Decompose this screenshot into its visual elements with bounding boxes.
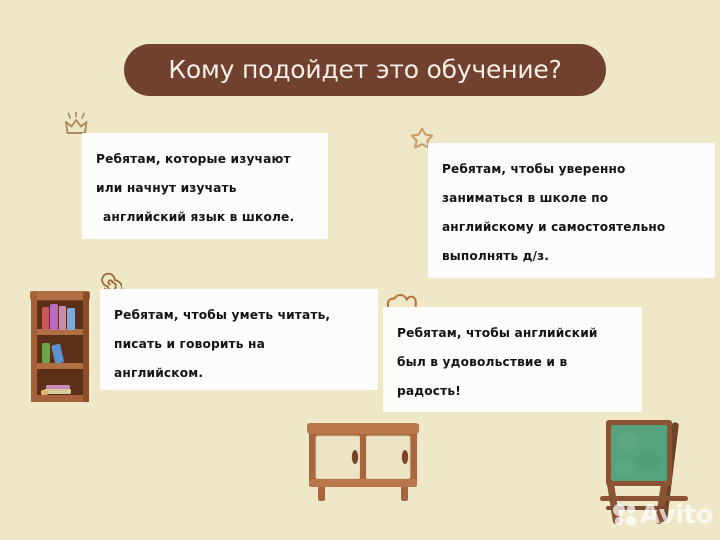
card-line: заниматься в школе по [442, 184, 701, 213]
card-line: английский язык в школе. [96, 203, 314, 232]
page-title-pill: Кому подойдет это обучение? [124, 44, 606, 96]
bookshelf-illustration [28, 289, 94, 407]
card-line: писать и говорить на [114, 330, 364, 359]
card-line: Ребятам, чтобы уметь читать, [114, 301, 364, 330]
card-line: радость! [397, 377, 628, 406]
card-line: Ребятам, которые изучают [96, 145, 314, 174]
benefit-card-1: Ребятам, которые изучают или начнут изуч… [82, 133, 328, 239]
avito-logo-icon [612, 502, 638, 528]
poster-canvas: Кому подойдет это обучение? Ребятам, [0, 0, 720, 540]
card-line: Ребятам, чтобы английский [397, 319, 628, 348]
benefit-card-3: Ребятам, чтобы уметь читать, писать и го… [100, 289, 378, 390]
benefit-card-4: Ребятам, чтобы английский был в удовольс… [383, 307, 642, 412]
card-line: английскому и самостоятельно [442, 213, 701, 242]
card-line: Ребятам, чтобы уверенно [442, 155, 701, 184]
page-title: Кому подойдет это обучение? [168, 57, 561, 84]
benefit-card-2: Ребятам, чтобы уверенно заниматься в шко… [428, 143, 715, 278]
avito-watermark: Avito [612, 502, 713, 528]
card-line: был в удовольствие и в [397, 348, 628, 377]
card-line: выполнять д/з. [442, 242, 701, 271]
card-line: или начнут изучать [96, 174, 314, 203]
avito-watermark-text: Avito [640, 502, 713, 528]
card-line: английском. [114, 359, 364, 388]
cabinet-illustration [305, 419, 421, 503]
